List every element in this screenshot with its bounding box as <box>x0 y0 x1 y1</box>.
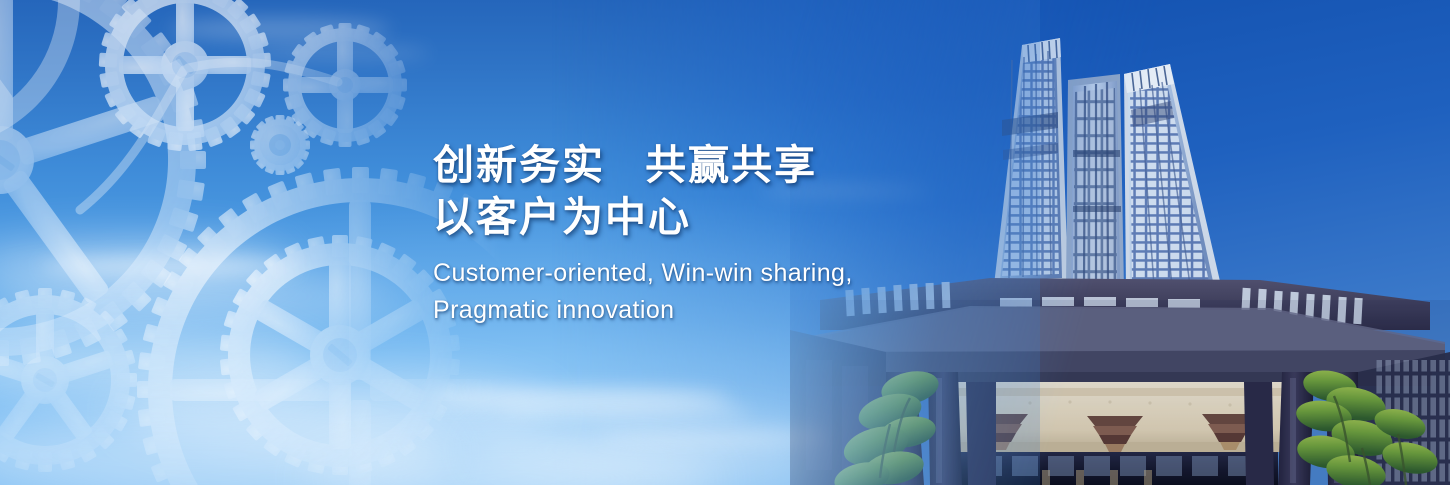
headline-chinese-line-1: 创新务实 共赢共享 <box>433 140 953 190</box>
subtitle-english-line-2: Pragmatic innovation <box>433 292 953 329</box>
banner-copy: 创新务实 共赢共享 以客户为中心 Customer-oriented, Win-… <box>433 140 953 329</box>
subtitle-english-line-1: Customer-oriented, Win-win sharing, <box>433 255 953 292</box>
headline-chinese-line-2: 以客户为中心 <box>433 192 953 242</box>
company-culture-banner: 创新务实 共赢共享 以客户为中心 Customer-oriented, Win-… <box>0 0 1450 485</box>
